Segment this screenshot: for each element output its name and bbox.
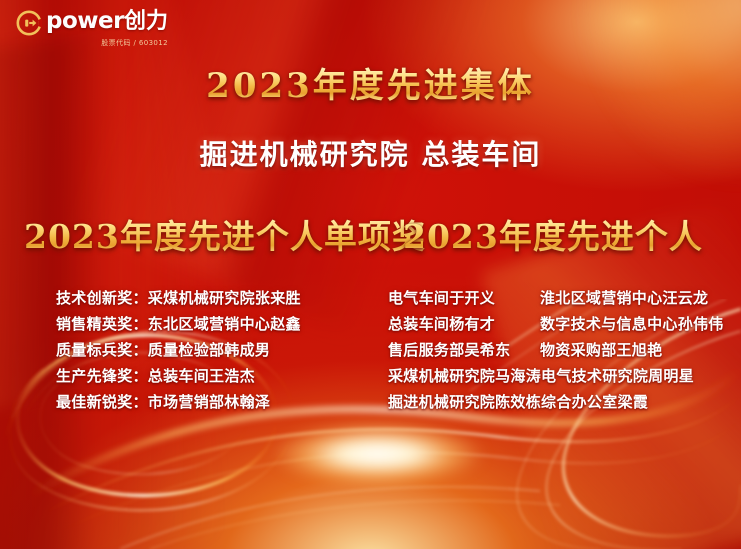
list-item: 质量标兵奖：质量检验部韩成男 bbox=[56, 337, 356, 363]
list-item: 最佳新锐奖：市场营销部林翰泽 bbox=[56, 389, 356, 415]
list-item-name-a: 总装车间杨有才 bbox=[388, 311, 540, 337]
power-plug-circle-icon bbox=[16, 10, 42, 36]
list-item: 技术创新奖：采煤机械研究院张来胜 bbox=[56, 285, 356, 311]
list-item: 售后服务部吴希东 物资采购部王旭艳 bbox=[388, 337, 728, 363]
page-title: 2023年度先进集体 bbox=[0, 66, 741, 106]
brand-text-block: power创力 股票代码 / 603012 bbox=[46, 9, 168, 48]
list-item: 生产先锋奖：总装车间王浩杰 bbox=[56, 363, 356, 389]
left-award-column: 技术创新奖：采煤机械研究院张来胜 销售精英奖：东北区域营销中心赵鑫 质量标兵奖：… bbox=[56, 285, 356, 415]
list-item-name-a: 采煤机械研究院马海涛 bbox=[388, 363, 541, 389]
stock-code: 股票代码 / 603012 bbox=[46, 38, 168, 48]
section-heading-individual-special-award: 2023年度先进个人单项奖 bbox=[24, 214, 426, 260]
list-item: 采煤机械研究院马海涛 电气技术研究院周明星 bbox=[388, 363, 728, 389]
brand-name-cn: 创力 bbox=[124, 9, 168, 34]
list-item: 掘进机械研究院陈效栋 综合办公室梁霞 bbox=[388, 389, 728, 415]
list-item-name-a: 掘进机械研究院陈效栋 bbox=[388, 389, 541, 415]
list-item-name-b: 电气技术研究院周明星 bbox=[541, 363, 728, 389]
brand-logo: power创力 股票代码 / 603012 bbox=[16, 9, 168, 48]
list-item: 总装车间杨有才 数字技术与信息中心孙伟伟 bbox=[388, 311, 728, 337]
list-item-name-b: 物资采购部王旭艳 bbox=[540, 337, 728, 363]
center-glow-hot bbox=[252, 417, 504, 491]
list-item: 电气车间于开义 淮北区域营销中心汪云龙 bbox=[388, 285, 728, 311]
list-item-name-b: 综合办公室梁霞 bbox=[541, 389, 728, 415]
page-subtitle: 掘进机械研究院 总装车间 bbox=[0, 138, 741, 172]
brand-name: power创力 bbox=[46, 9, 168, 34]
list-item-name-a: 电气车间于开义 bbox=[388, 285, 540, 311]
list-item-name-a: 售后服务部吴希东 bbox=[388, 337, 540, 363]
section-heading-advanced-individual: 2023年度先进个人 bbox=[403, 214, 703, 260]
brand-name-en: power bbox=[46, 8, 124, 34]
right-award-column: 电气车间于开义 淮北区域营销中心汪云龙 总装车间杨有才 数字技术与信息中心孙伟伟… bbox=[388, 285, 728, 415]
award-poster: power创力 股票代码 / 603012 2023年度先进集体 掘进机械研究院… bbox=[0, 0, 741, 549]
list-item: 销售精英奖：东北区域营销中心赵鑫 bbox=[56, 311, 356, 337]
list-item-name-b: 数字技术与信息中心孙伟伟 bbox=[540, 311, 728, 337]
section-headings: 2023年度先进个人单项奖 2023年度先进个人 bbox=[0, 214, 741, 262]
list-item-name-b: 淮北区域营销中心汪云龙 bbox=[540, 285, 728, 311]
